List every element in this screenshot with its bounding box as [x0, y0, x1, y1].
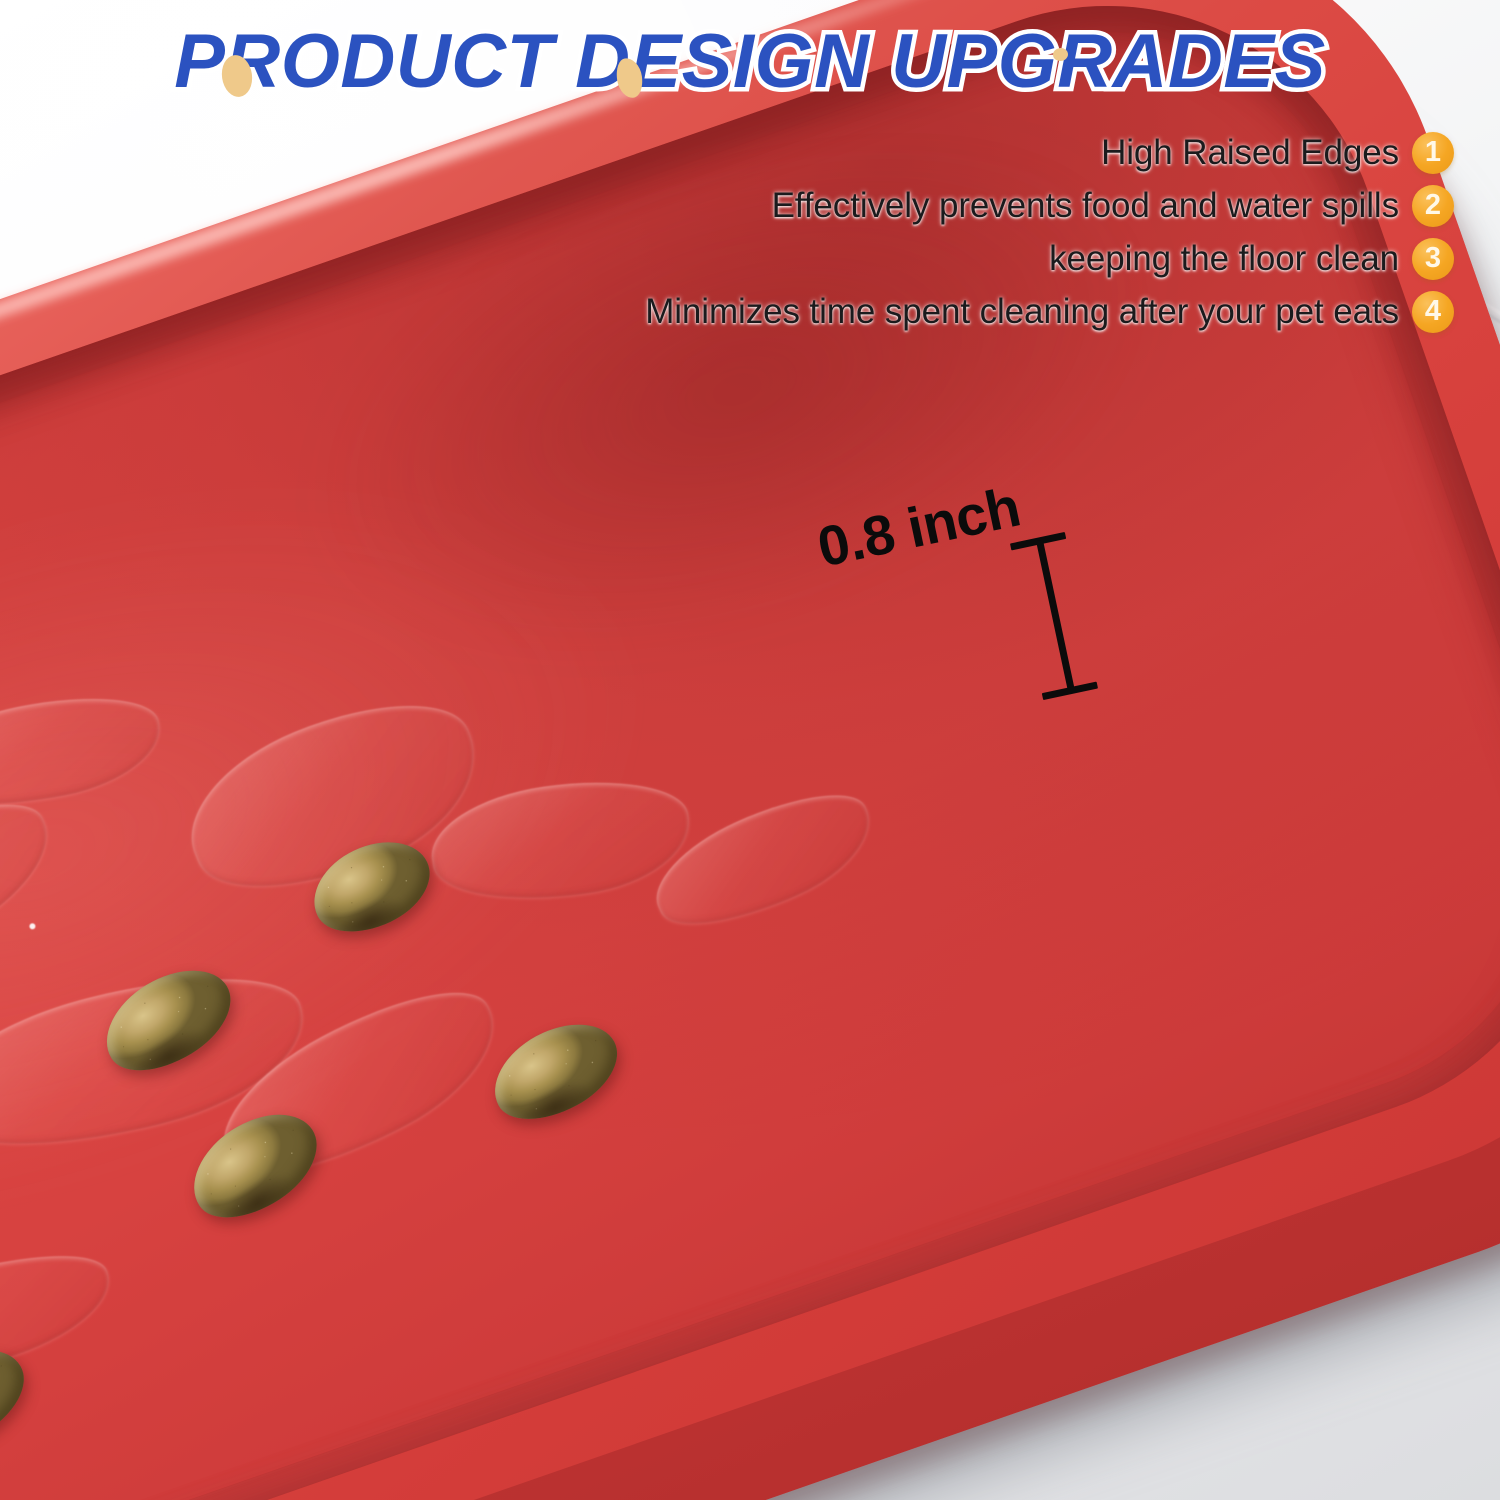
feature-number-badge: 2 [1412, 185, 1454, 227]
feature-number-badge: 4 [1412, 291, 1454, 333]
page-title: PRODUCT DESIGN UPGRADES [0, 18, 1500, 105]
feature-label: Minimizes time spent cleaning after your… [645, 292, 1399, 332]
feature-label: keeping the floor clean [1049, 239, 1399, 279]
feature-item-4: Minimizes time spent cleaning after your… [454, 285, 1454, 338]
feature-label: High Raised Edges [1101, 133, 1399, 173]
dimension-stem [1036, 540, 1075, 692]
feature-item-3: keeping the floor clean 3 [454, 232, 1454, 285]
feature-label: Effectively prevents food and water spil… [772, 186, 1399, 226]
feature-list: High Raised Edges 1 Effectively prevents… [454, 126, 1454, 338]
feature-item-2: Effectively prevents food and water spil… [454, 179, 1454, 232]
feature-item-1: High Raised Edges 1 [454, 126, 1454, 179]
feature-number-badge: 3 [1412, 238, 1454, 280]
feature-number-badge: 1 [1412, 132, 1454, 174]
product-infographic: PRODUCT DESIGN UPGRADES High Raised Edge… [0, 0, 1500, 1500]
